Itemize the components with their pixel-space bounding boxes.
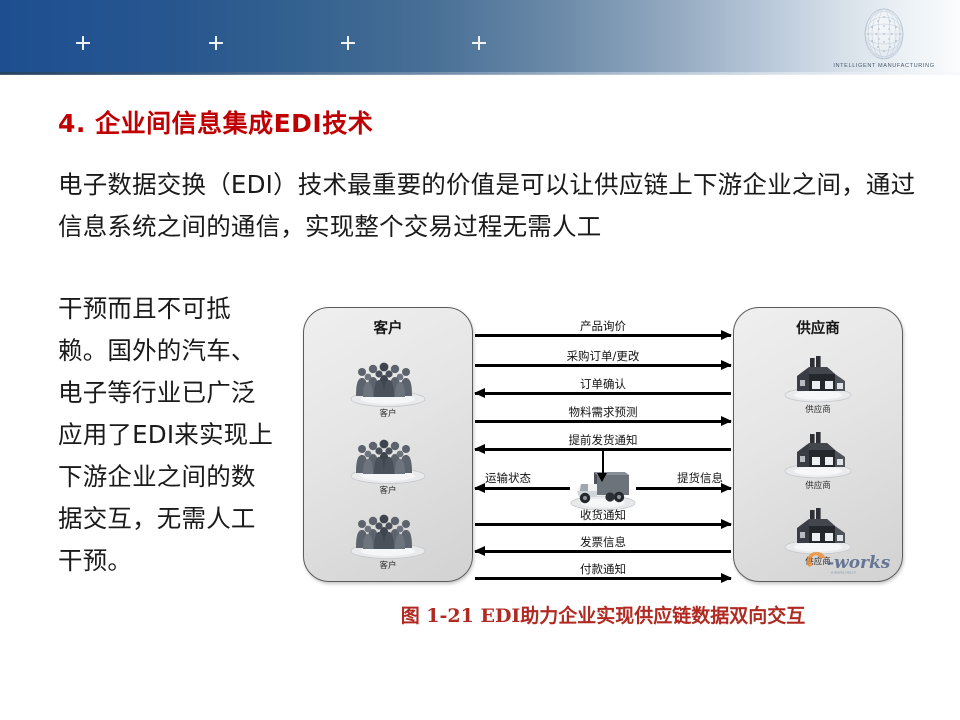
flow-label: 提前发货通知 <box>473 432 733 448</box>
header-plus-mark-2 <box>208 35 224 51</box>
flow-line <box>475 577 731 580</box>
people-group-icon <box>342 433 434 485</box>
arrow-head-right-icon <box>721 519 732 529</box>
body-paragraph-top: 电子数据交换（EDI）技术最重要的价值是可以让供应链上下游企业之间，通过信息系统… <box>58 164 918 248</box>
arrow-head-down-icon <box>597 473 607 482</box>
page-title: 4. 企业间信息集成EDI技术 <box>58 104 373 140</box>
customer-node-1: 客户 <box>304 356 472 419</box>
globe-network-icon <box>858 6 910 62</box>
people-group-icon <box>342 508 434 560</box>
people-group-icon <box>342 356 434 408</box>
edi-diagram: 客户 客户 客户 <box>303 307 903 582</box>
flow-label: 付款通知 <box>473 561 733 577</box>
supplier-panel-title: 供应商 <box>734 317 902 338</box>
arrow-head-right-icon <box>721 330 732 340</box>
factory-icon <box>775 506 861 556</box>
arrow-head-left-icon <box>474 444 485 454</box>
brand-logo: INTELLIGENT MANUFACTURING <box>824 6 944 72</box>
customer-panel-title: 客户 <box>304 317 472 338</box>
flow-label: 物料需求预测 <box>473 404 733 420</box>
arrow-head-left-icon <box>474 388 485 398</box>
flow-line <box>475 334 731 337</box>
supplier-panel: 供应商 供应商 供应商 <box>733 307 903 582</box>
factory-icon <box>775 354 861 404</box>
flow-label: 收货通知 <box>473 507 733 523</box>
customer-node-label: 客户 <box>304 484 472 496</box>
flow-line <box>475 420 731 423</box>
message-flow-lines: 产品询价 采购订单/更改 订单确认 物料需求预测 提前发货通知 运输状态 提货信… <box>473 307 733 582</box>
flow-line <box>475 364 731 367</box>
flow-segment-right <box>636 487 731 490</box>
supplier-node-1: 供应商 <box>734 354 902 415</box>
factory-icon <box>775 430 861 480</box>
flow-line <box>475 392 731 395</box>
body-paragraph-left: 干预而且不可抵赖。国外的汽车、电子等行业已广泛应用了EDI来实现上下游企业之间的… <box>58 288 276 582</box>
logo-text: INTELLIGENT MANUFACTURING <box>833 63 934 69</box>
arrow-head-right-icon <box>721 416 732 426</box>
arrow-head-left-icon <box>474 483 485 493</box>
flow-label: 提货信息 <box>677 470 723 486</box>
header-plus-mark-1 <box>75 35 91 51</box>
flow-label: 采购订单/更改 <box>473 348 733 364</box>
customer-panel: 客户 客户 客户 <box>303 307 473 582</box>
arrow-head-right-icon <box>721 573 732 583</box>
supplier-node-label: 供应商 <box>734 479 902 491</box>
flow-label: 发票信息 <box>473 534 733 550</box>
customer-node-3: 客户 <box>304 508 472 571</box>
flow-label: 运输状态 <box>485 470 531 486</box>
supplier-node-label: 供应商 <box>734 555 902 567</box>
vertical-drop-line <box>602 448 605 473</box>
flow-line <box>475 523 731 526</box>
flow-line <box>475 550 731 553</box>
customer-node-label: 客户 <box>304 559 472 571</box>
flow-label: 产品询价 <box>473 318 733 334</box>
arrow-head-right-icon <box>721 360 732 370</box>
svg-text:e-works.net.cn: e-works.net.cn <box>831 571 856 575</box>
header-bottom-divider <box>0 72 960 75</box>
flow-label: 订单确认 <box>473 376 733 392</box>
header-plus-mark-3 <box>340 35 356 51</box>
flow-segment-left <box>475 487 570 490</box>
customer-node-2: 客户 <box>304 433 472 496</box>
supplier-node-label: 供应商 <box>734 403 902 415</box>
customer-node-label: 客户 <box>304 407 472 419</box>
arrow-head-left-icon <box>474 546 485 556</box>
figure-caption: 图 1-21 EDI助力企业实现供应链数据双向交互 <box>303 601 903 628</box>
supplier-node-2: 供应商 <box>734 430 902 491</box>
header-plus-mark-4 <box>471 35 487 51</box>
supplier-node-3: 供应商 <box>734 506 902 567</box>
